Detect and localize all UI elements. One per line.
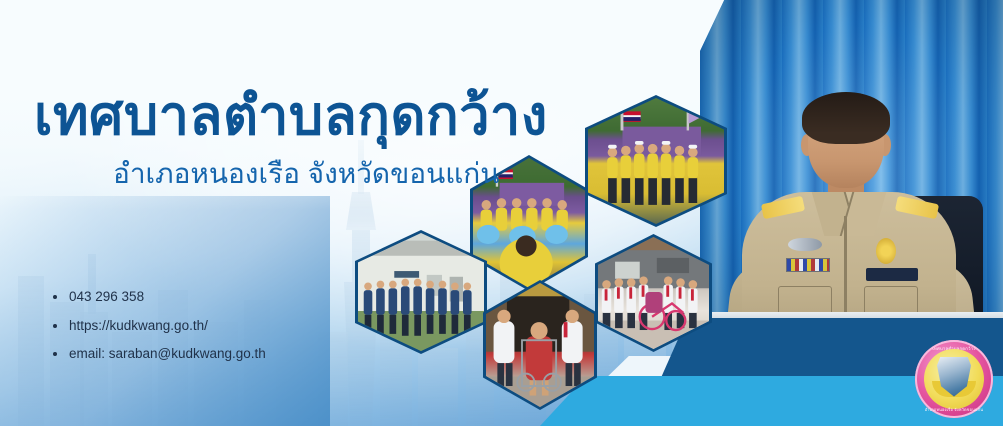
municipal-seal-logo: เทศบาลตำบลกุดกว้าง อำเภอหนองเรือ จังหวัด… <box>915 340 993 418</box>
contact-email-link[interactable]: email: saraban@kudkwang.go.th <box>69 346 266 361</box>
page-title: เทศบาลตำบลกุดกว้าง <box>34 88 548 145</box>
contact-item-email[interactable]: email: saraban@kudkwang.go.th <box>52 347 266 361</box>
seal-bottom-text: อำเภอหนองเรือ จังหวัดขอนแก่น <box>915 407 993 413</box>
contact-phone-text: 043 296 358 <box>69 289 144 304</box>
photo-wheelchair-handover <box>486 283 594 407</box>
contact-item-phone: 043 296 358 <box>52 290 266 304</box>
hex-photo-bottom-inner <box>486 283 594 407</box>
page-subtitle: อำเภอหนองเรือ จังหวัดขอนแก่น <box>113 158 499 189</box>
contact-website-link[interactable]: https://kudkwang.go.th/ <box>69 318 208 333</box>
hex-photo-right-inner <box>598 237 709 349</box>
contact-item-website[interactable]: https://kudkwang.go.th/ <box>52 319 266 333</box>
photo-home-visit-group <box>598 237 709 349</box>
portrait-wing-insignia <box>788 238 822 251</box>
municipality-hero-banner: เทศบาลตำบลกุดกว้าง อำเภอหนองเรือ จังหวัด… <box>0 0 1003 426</box>
portrait-badge-icon <box>876 238 896 264</box>
portrait-nametag <box>866 268 918 281</box>
portrait-hair <box>802 92 890 144</box>
seal-inner-disc <box>924 349 984 409</box>
contact-list: 043 296 358 https://kudkwang.go.th/ emai… <box>52 290 266 376</box>
portrait-ribbon-bar <box>786 258 830 272</box>
